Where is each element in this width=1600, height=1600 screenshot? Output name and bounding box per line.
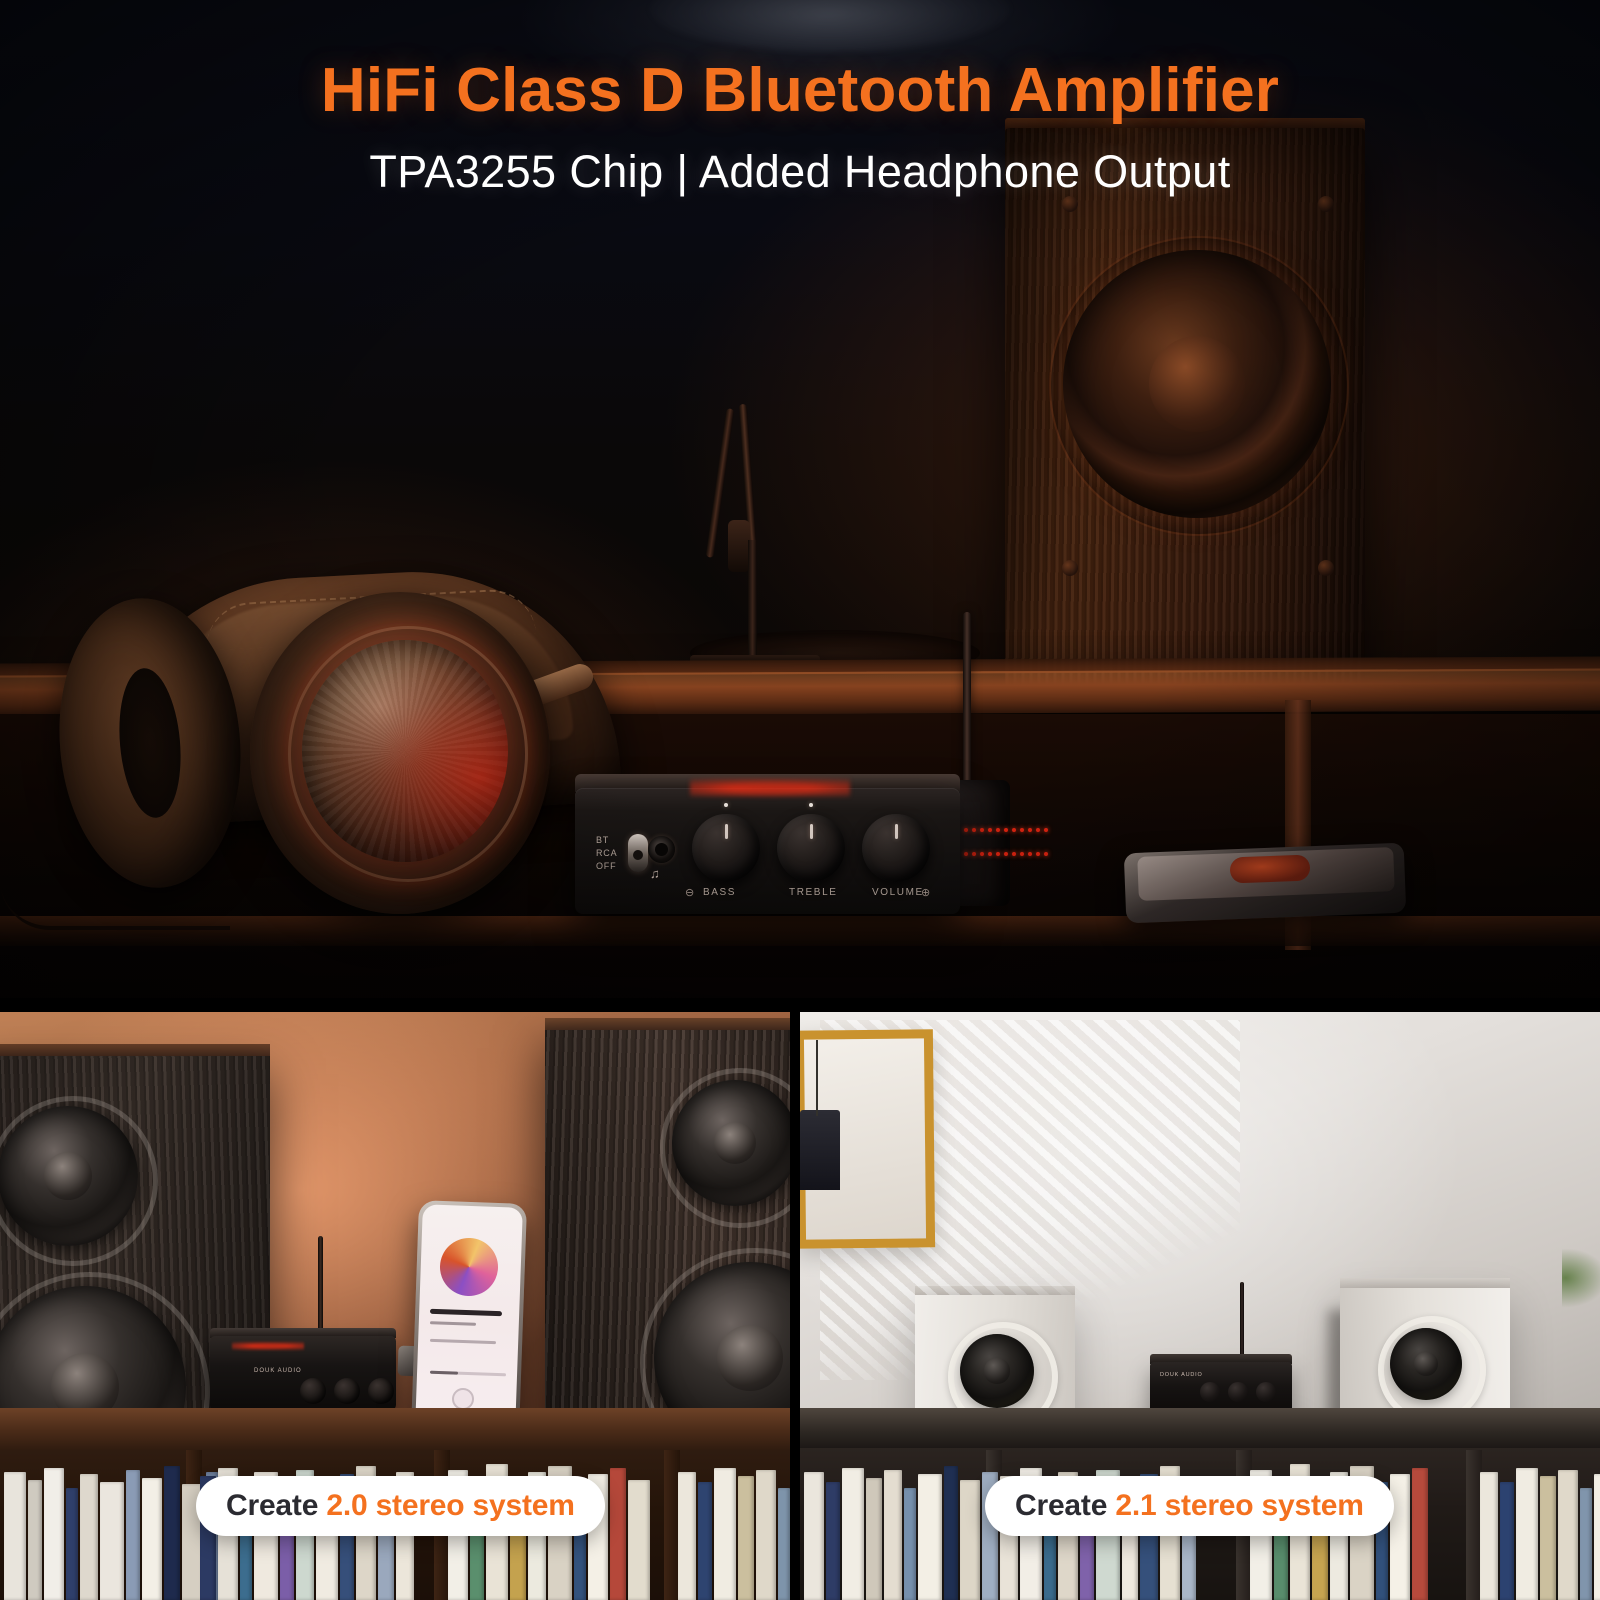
caption-prefix: Create [1015,1489,1115,1522]
headphones-red-highlight [302,640,508,862]
amplifier-antenna [318,1236,323,1334]
hanging-string [816,1040,818,1116]
volume-knob[interactable] [862,814,930,882]
lower-shelf [0,916,1600,946]
microphone-capsule [728,520,750,572]
treble-knob[interactable] [777,814,845,882]
page-title: HiFi Class D Bluetooth Amplifier [0,58,1600,124]
book-row [678,1464,790,1600]
caption-prefix: Create [226,1489,326,1522]
vu-meter-row [964,828,1048,832]
tweeter-right [672,1080,790,1206]
knob-indicator-dot [809,803,813,807]
amplifier-antenna [1240,1282,1244,1358]
speaker-screw-icon [1318,196,1334,212]
panel-left: DOUK AUDIO [0,1010,790,1600]
speaker-screw-icon [1062,196,1078,212]
knob-indicator-dot [724,803,728,807]
volume-label: VOLUME [872,887,924,898]
bass-knob[interactable] [300,1378,326,1404]
plus-icon: ⊕ [921,886,930,899]
vu-meter-row [964,852,1048,856]
input-selector-switch[interactable] [628,834,648,872]
page-subtitle: TPA3255 Chip | Added Headphone Output [0,146,1600,198]
bass-knob[interactable] [692,814,760,882]
caption-pill-left: Create 2.0 stereo system [196,1476,605,1536]
amplifier-brand: DOUK AUDIO [1160,1372,1203,1378]
volume-knob[interactable] [368,1378,394,1404]
amplifier-antenna [963,612,971,790]
switch-label-bt: BT [596,834,617,847]
caption-highlight: 2.1 stereo system [1115,1489,1363,1522]
hero-scene: DOUK AUDIOA5 PRO BT RCA OFF ♫ ⊖ BASS TRE… [0,0,1600,998]
switch-label-rca: RCA [596,847,617,860]
headphones-cable [0,880,230,930]
product-marketing-image: DOUK AUDIOA5 PRO BT RCA OFF ♫ ⊖ BASS TRE… [0,0,1600,1600]
album-art [1230,854,1311,883]
panel-right: DOUK AUDIO [800,1010,1600,1600]
amplifier-red-glow [232,1340,304,1352]
switch-label-off: OFF [596,860,617,873]
bass-knob[interactable] [1200,1382,1220,1402]
plant-leaves [1562,1248,1600,1308]
book-row [4,1462,218,1600]
bass-label: BASS [703,887,736,898]
speaker-screw-icon [1062,560,1078,576]
treble-knob[interactable] [334,1378,360,1404]
caption-pill-right: Create 2.1 stereo system [985,1476,1394,1536]
volume-knob[interactable] [1256,1382,1276,1402]
table-surface [0,1408,790,1452]
book-row [1480,1464,1600,1600]
panel-divider-horizontal [0,998,1600,1012]
treble-knob[interactable] [1228,1382,1248,1402]
tweeter-right [1390,1328,1462,1400]
minus-icon: ⊖ [685,886,694,899]
input-switch-labels: BT RCA OFF [596,834,617,873]
headphones-icon: ♫ [650,866,660,881]
hero-woofer [1063,250,1331,518]
ceiling-light-glow [650,0,1010,52]
book-row [804,1462,998,1600]
tweeter-left [0,1106,138,1246]
panel-divider-vertical [790,1010,800,1600]
picture-artwork [800,1110,840,1190]
speaker-screw-icon [1318,560,1334,576]
headphone-jack[interactable] [648,836,675,863]
headline-block: HiFi Class D Bluetooth Amplifier TPA3255… [0,58,1600,198]
table-surface [800,1408,1600,1450]
caption-highlight: 2.0 stereo system [326,1489,574,1522]
amplifier-red-top-glow [690,775,850,797]
amplifier-brand: DOUK AUDIO [254,1368,302,1374]
treble-label: TREBLE [789,887,838,898]
microphone-post [748,540,757,662]
tweeter-left [960,1334,1034,1408]
